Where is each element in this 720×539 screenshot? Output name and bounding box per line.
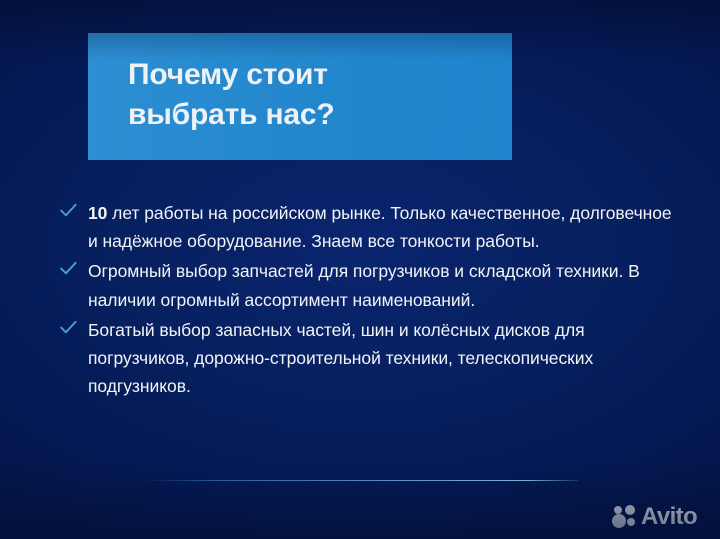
- list-item-text: Богатый выбор запасных частей, шин и кол…: [88, 316, 674, 401]
- list-item-text: Огромный выбор запчастей для погрузчиков…: [88, 257, 674, 313]
- section-divider: [148, 480, 578, 481]
- list-item-lead: 10: [88, 203, 107, 223]
- check-icon: [60, 199, 88, 218]
- benefits-list: 10 лет работы на российском рынке. Тольк…: [60, 199, 674, 402]
- list-item: 10 лет работы на российском рынке. Тольк…: [60, 199, 674, 255]
- check-icon: [60, 316, 88, 335]
- avito-dots-icon: [612, 505, 638, 529]
- title-banner: Почему стоит выбрать нас?: [88, 33, 512, 160]
- avito-watermark: Avito: [612, 502, 697, 532]
- page-title: Почему стоит выбрать нас?: [128, 55, 488, 135]
- check-icon: [60, 257, 88, 276]
- list-item-text: 10 лет работы на российском рынке. Тольк…: [88, 199, 674, 255]
- list-item: Богатый выбор запасных частей, шин и кол…: [60, 316, 674, 401]
- slide-canvas: Почему стоит выбрать нас? 10 лет работы …: [0, 0, 720, 539]
- list-item-body: Огромный выбор запчастей для погрузчиков…: [88, 261, 640, 309]
- list-item: Огромный выбор запчастей для погрузчиков…: [60, 257, 674, 313]
- list-item-body: Богатый выбор запасных частей, шин и кол…: [88, 320, 593, 396]
- list-item-body: лет работы на российском рынке. Только к…: [88, 203, 672, 251]
- avito-wordmark: Avito: [641, 505, 697, 529]
